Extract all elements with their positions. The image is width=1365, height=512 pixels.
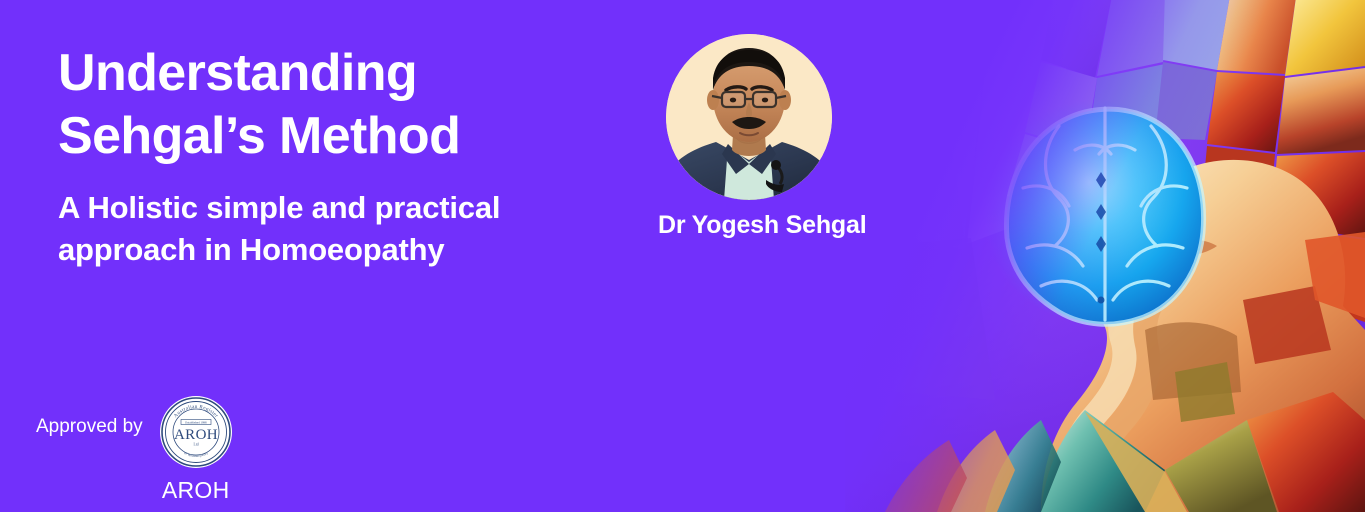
approved-by-label: Approved by xyxy=(36,396,143,439)
title-line-2: Sehgal’s Method xyxy=(58,105,658,168)
aroh-seal-icon: Australian Register of Homoeopathy Estab… xyxy=(160,396,232,468)
speaker-block: Dr Yogesh Sehgal xyxy=(658,34,840,240)
page-title: Understanding Sehgal’s Method xyxy=(58,42,658,168)
svg-text:Ltd: Ltd xyxy=(193,443,198,447)
aroh-logo-block: Australian Register of Homoeopathy Estab… xyxy=(160,396,232,504)
abstract-head-artwork xyxy=(845,0,1365,512)
accreditation-block: Approved by Australian Register xyxy=(36,396,232,504)
title-line-1: Understanding xyxy=(58,42,658,105)
svg-text:Established 1998: Established 1998 xyxy=(185,421,207,425)
promo-banner: Understanding Sehgal’s Method A Holistic… xyxy=(0,0,1365,512)
aroh-caption: AROH xyxy=(160,477,232,504)
speaker-name: Dr Yogesh Sehgal xyxy=(658,211,840,240)
subtitle-line-2: approach in Homoeopathy xyxy=(58,229,668,271)
subtitle-line-1: A Holistic simple and practical xyxy=(58,187,668,229)
page-subtitle: A Holistic simple and practical approach… xyxy=(58,187,668,271)
avatar xyxy=(666,34,832,200)
svg-text:AROH: AROH xyxy=(174,427,218,443)
